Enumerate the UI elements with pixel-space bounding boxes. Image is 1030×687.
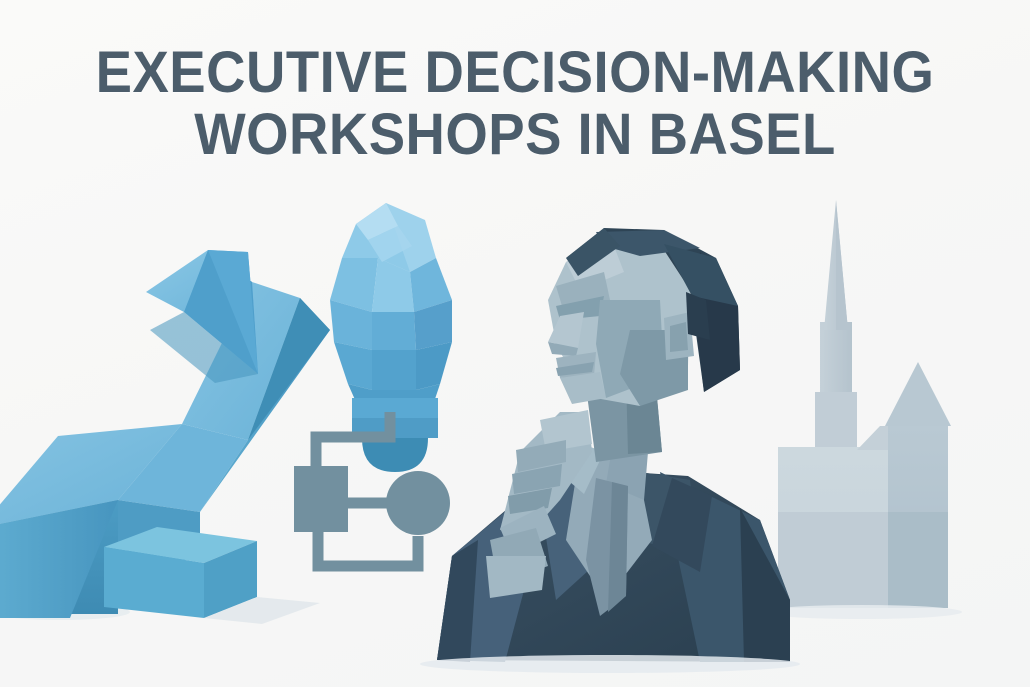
title-line-1: EXECUTIVE DECISION-MAKING [31,42,999,104]
title-line-2: WORKSHOPS IN BASEL [31,104,999,166]
head [548,228,740,406]
page-title: EXECUTIVE DECISION-MAKING WORKSHOPS IN B… [0,42,1030,166]
ear-inner [670,322,688,352]
poster-canvas: EXECUTIVE DECISION-MAKING WORKSHOPS IN B… [0,0,1030,687]
figure-ground-shadow [420,655,800,673]
